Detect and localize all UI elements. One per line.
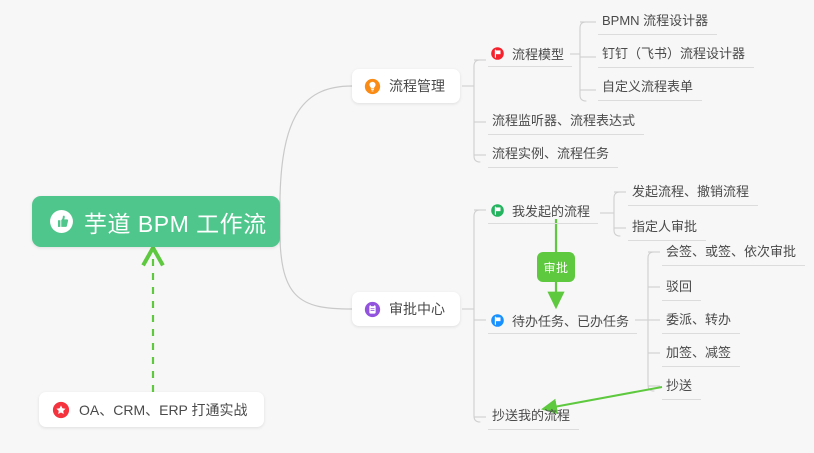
flag-icon bbox=[490, 203, 505, 218]
leaf-node-process-listener[interactable]: 流程监听器、流程表达式 bbox=[488, 109, 644, 135]
branch-node-process-management[interactable]: 流程管理 bbox=[352, 69, 460, 103]
leaf-node-dingtalk-designer[interactable]: 钉钉（飞书）流程设计器 bbox=[598, 42, 754, 68]
flag-icon bbox=[490, 46, 505, 61]
annotation-badge-label: 审批 bbox=[543, 259, 568, 276]
leaf-node-assignee-approval[interactable]: 指定人审批 bbox=[628, 215, 706, 241]
star-icon bbox=[52, 401, 70, 419]
bulb-icon bbox=[364, 78, 381, 95]
callout-node-integration[interactable]: OA、CRM、ERP 打通实战 bbox=[39, 392, 264, 427]
root-node[interactable]: 芋道 BPM 工作流 bbox=[32, 196, 280, 247]
leaf-node-custom-form[interactable]: 自定义流程表单 bbox=[598, 75, 702, 101]
leaf-node-countersign[interactable]: 会签、或签、依次审批 bbox=[662, 240, 805, 266]
node-label-process-model: 流程模型 bbox=[512, 44, 564, 63]
flag-icon bbox=[490, 313, 505, 328]
branch-label-approval-center: 审批中心 bbox=[389, 299, 445, 319]
node-todo-done-tasks[interactable]: 待办任务、已办任务 bbox=[488, 308, 637, 334]
mindmap-canvas: 芋道 BPM 工作流 流程管理 审批中心 bbox=[0, 0, 814, 453]
callout-label: OA、CRM、ERP 打通实战 bbox=[79, 400, 248, 420]
thumbs-up-icon bbox=[49, 209, 74, 234]
leaf-node-bpmn-designer[interactable]: BPMN 流程设计器 bbox=[598, 9, 717, 35]
node-label-todo-done-tasks: 待办任务、已办任务 bbox=[512, 311, 629, 330]
leaf-node-start-cancel-process[interactable]: 发起流程、撤销流程 bbox=[628, 180, 758, 206]
root-label: 芋道 BPM 工作流 bbox=[84, 205, 267, 239]
leaf-node-add-remove-sign[interactable]: 加签、减签 bbox=[662, 341, 740, 367]
node-my-started-process[interactable]: 我发起的流程 bbox=[488, 198, 598, 224]
clipboard-icon bbox=[364, 301, 381, 318]
annotation-badge-approval: 审批 bbox=[537, 252, 575, 282]
leaf-node-cc-to-me-process[interactable]: 抄送我的流程 bbox=[488, 404, 579, 430]
leaf-node-carbon-copy[interactable]: 抄送 bbox=[662, 374, 701, 400]
node-label-my-started-process: 我发起的流程 bbox=[512, 201, 590, 220]
leaf-node-delegate-transfer[interactable]: 委派、转办 bbox=[662, 308, 740, 334]
leaf-node-process-instance[interactable]: 流程实例、流程任务 bbox=[488, 142, 618, 168]
branch-node-approval-center[interactable]: 审批中心 bbox=[352, 292, 460, 326]
node-process-model[interactable]: 流程模型 bbox=[488, 41, 572, 67]
leaf-node-reject[interactable]: 驳回 bbox=[662, 275, 701, 301]
branch-label-process-management: 流程管理 bbox=[389, 76, 445, 96]
